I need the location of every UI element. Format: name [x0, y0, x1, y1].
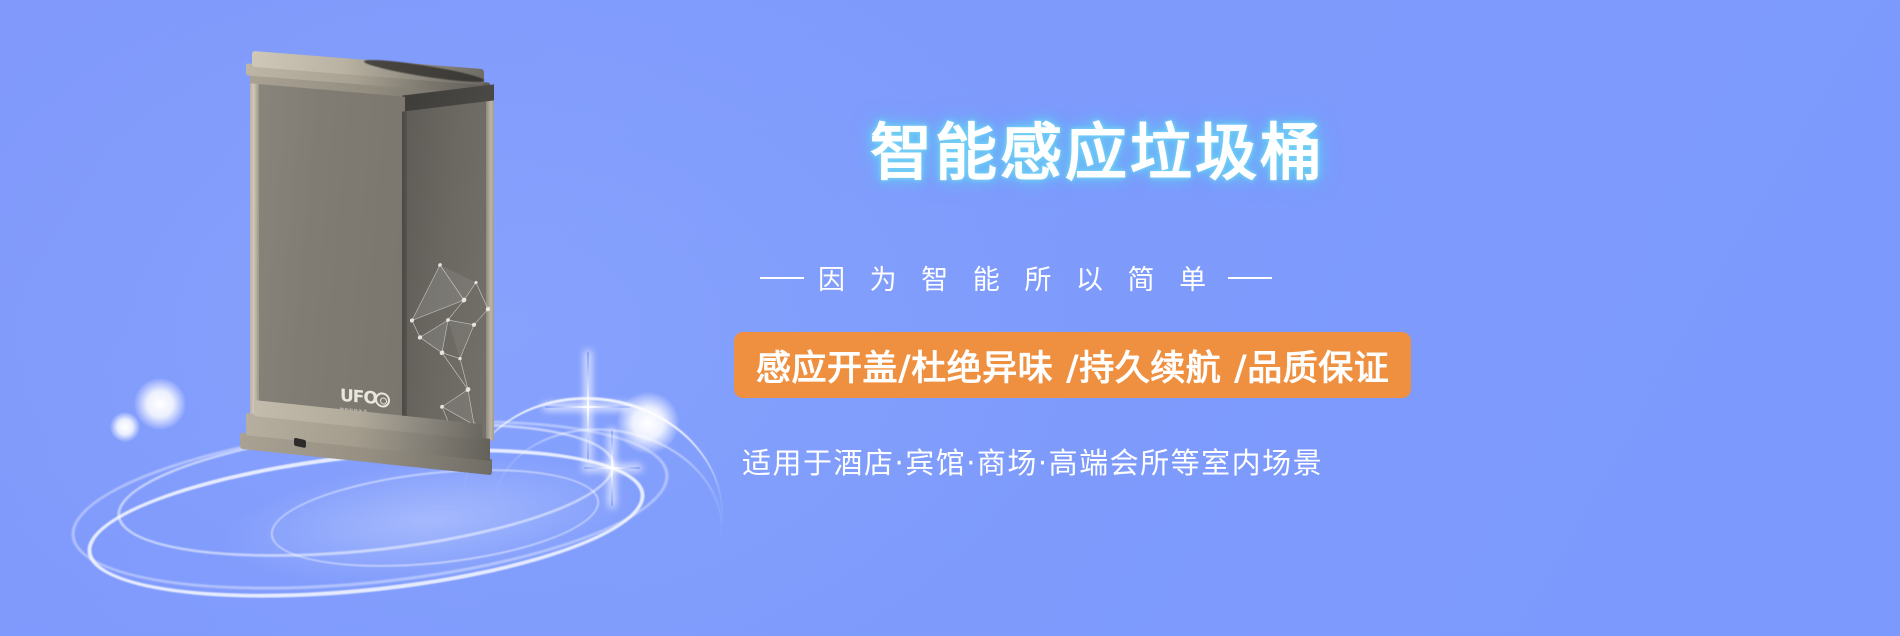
bin-side-panel [402, 100, 494, 451]
subtitle-line: 因 为 智 能 所 以 简 单 [760, 258, 1360, 297]
dash-left-icon [760, 277, 804, 279]
usage-scenario-text: 适用于酒店·宾馆·商场·高端会所等室内场景 [742, 440, 1323, 482]
glow-dot-icon [110, 412, 140, 442]
bin-front-panel [250, 83, 405, 437]
bin-front-edge [250, 83, 259, 424]
brand-ring-icon [375, 392, 390, 408]
product-scene: UFO 智能科技生活 SMART TECHNOLOGY LIFE [0, 0, 820, 636]
feature-badge: 感应开盖/杜绝异味 /持久续航 /品质保证 [734, 332, 1411, 398]
feature-badge-text: 感应开盖/杜绝异味 /持久续航 /品质保证 [756, 340, 1389, 391]
dash-right-icon [1228, 277, 1272, 279]
trash-bin-product: UFO 智能科技生活 SMART TECHNOLOGY LIFE [236, 60, 496, 460]
subtitle-text: 因 为 智 能 所 以 简 单 [818, 258, 1214, 297]
bin-base [236, 412, 496, 484]
product-promo-banner: UFO 智能科技生活 SMART TECHNOLOGY LIFE 智能感应垃圾桶… [0, 0, 1900, 636]
promo-text-block: 智能感应垃圾桶 因 为 智 能 所 以 简 单 感应开盖/杜绝异味 /持久续航 … [720, 0, 1900, 636]
glow-dot-icon [134, 378, 186, 430]
sparkle-icon [584, 430, 640, 506]
page-title: 智能感应垃圾桶 [870, 122, 1325, 184]
